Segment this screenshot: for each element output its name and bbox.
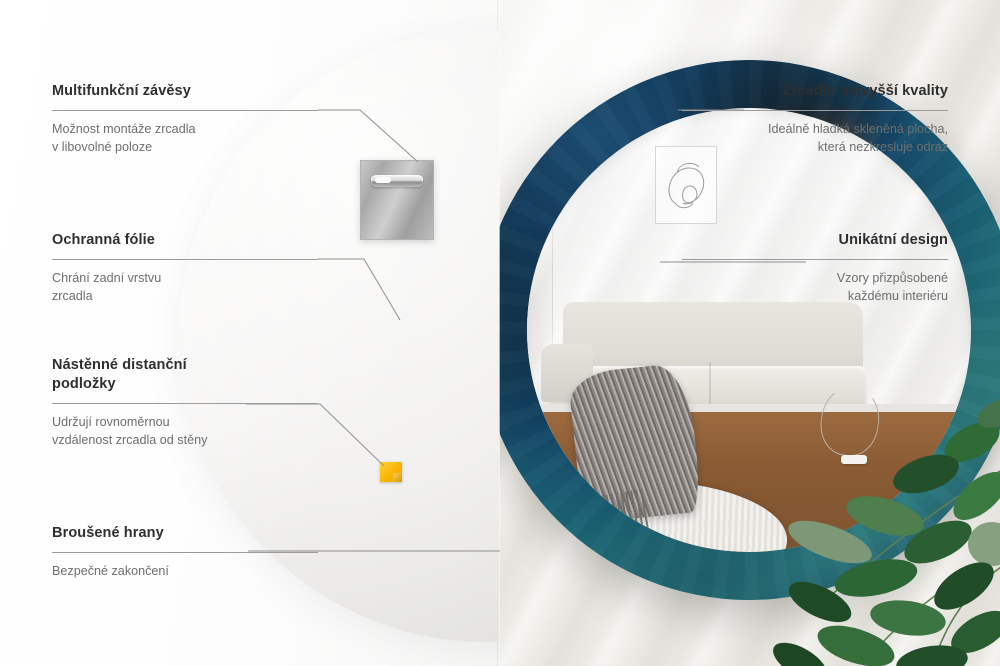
reflected-framed-artwork <box>655 146 717 224</box>
callout-title: Multifunkční závěsy <box>52 82 318 101</box>
hanger-bracket-slot <box>371 175 423 187</box>
callout-underline <box>52 552 318 553</box>
callout-title: Unikátní design <box>682 231 948 250</box>
callout-title: Zrcadlo nejvyšší kvality <box>682 82 948 101</box>
callout-multifunkcni-zavesy: Multifunkční závěsy Možnost montáže zrca… <box>52 82 318 157</box>
callout-underline <box>52 403 318 404</box>
callout-body: Možnost montáže zrcadla v libovolné polo… <box>52 121 318 157</box>
callout-body: Bezpečné zakončení <box>52 563 318 581</box>
callout-body: Ideálně hladká skleněná plocha, která ne… <box>682 121 948 157</box>
callout-unikatni-design: Unikátní design Vzory přizpůsobené každé… <box>682 231 948 306</box>
callout-title: Broušené hrany <box>52 524 318 543</box>
callout-zrcadlo-nejvyssi-kvality: Zrcadlo nejvyšší kvality Ideálně hladká … <box>682 82 948 157</box>
plant-foliage <box>680 346 1000 666</box>
wall-spacer-pad <box>380 462 402 482</box>
callout-title: Ochranná fólie <box>52 231 318 250</box>
hanger-bracket <box>360 160 434 240</box>
callout-title: Nástěnné distanční podložky <box>52 356 318 394</box>
callout-underline <box>52 259 318 260</box>
callout-body: Vzory přizpůsobené každému interiéru <box>682 270 948 306</box>
callout-nastenne-distancni-podlozky: Nástěnné distanční podložky Udržují rovn… <box>52 356 318 450</box>
callout-underline <box>682 259 948 260</box>
callout-brousene-hrany: Broušené hrany Bezpečné zakončení <box>52 524 318 581</box>
callout-body: Udržují rovnoměrnou vzdálenost zrcadla o… <box>52 414 318 450</box>
callout-ochranna-folie: Ochranná fólie Chrání zadní vrstvu zrcad… <box>52 231 318 306</box>
callout-underline <box>52 110 318 111</box>
callout-underline <box>682 110 948 111</box>
product-feature-infographic: Multifunkční závěsy Možnost montáže zrca… <box>0 0 1000 666</box>
callout-body: Chrání zadní vrstvu zrcadla <box>52 270 318 306</box>
